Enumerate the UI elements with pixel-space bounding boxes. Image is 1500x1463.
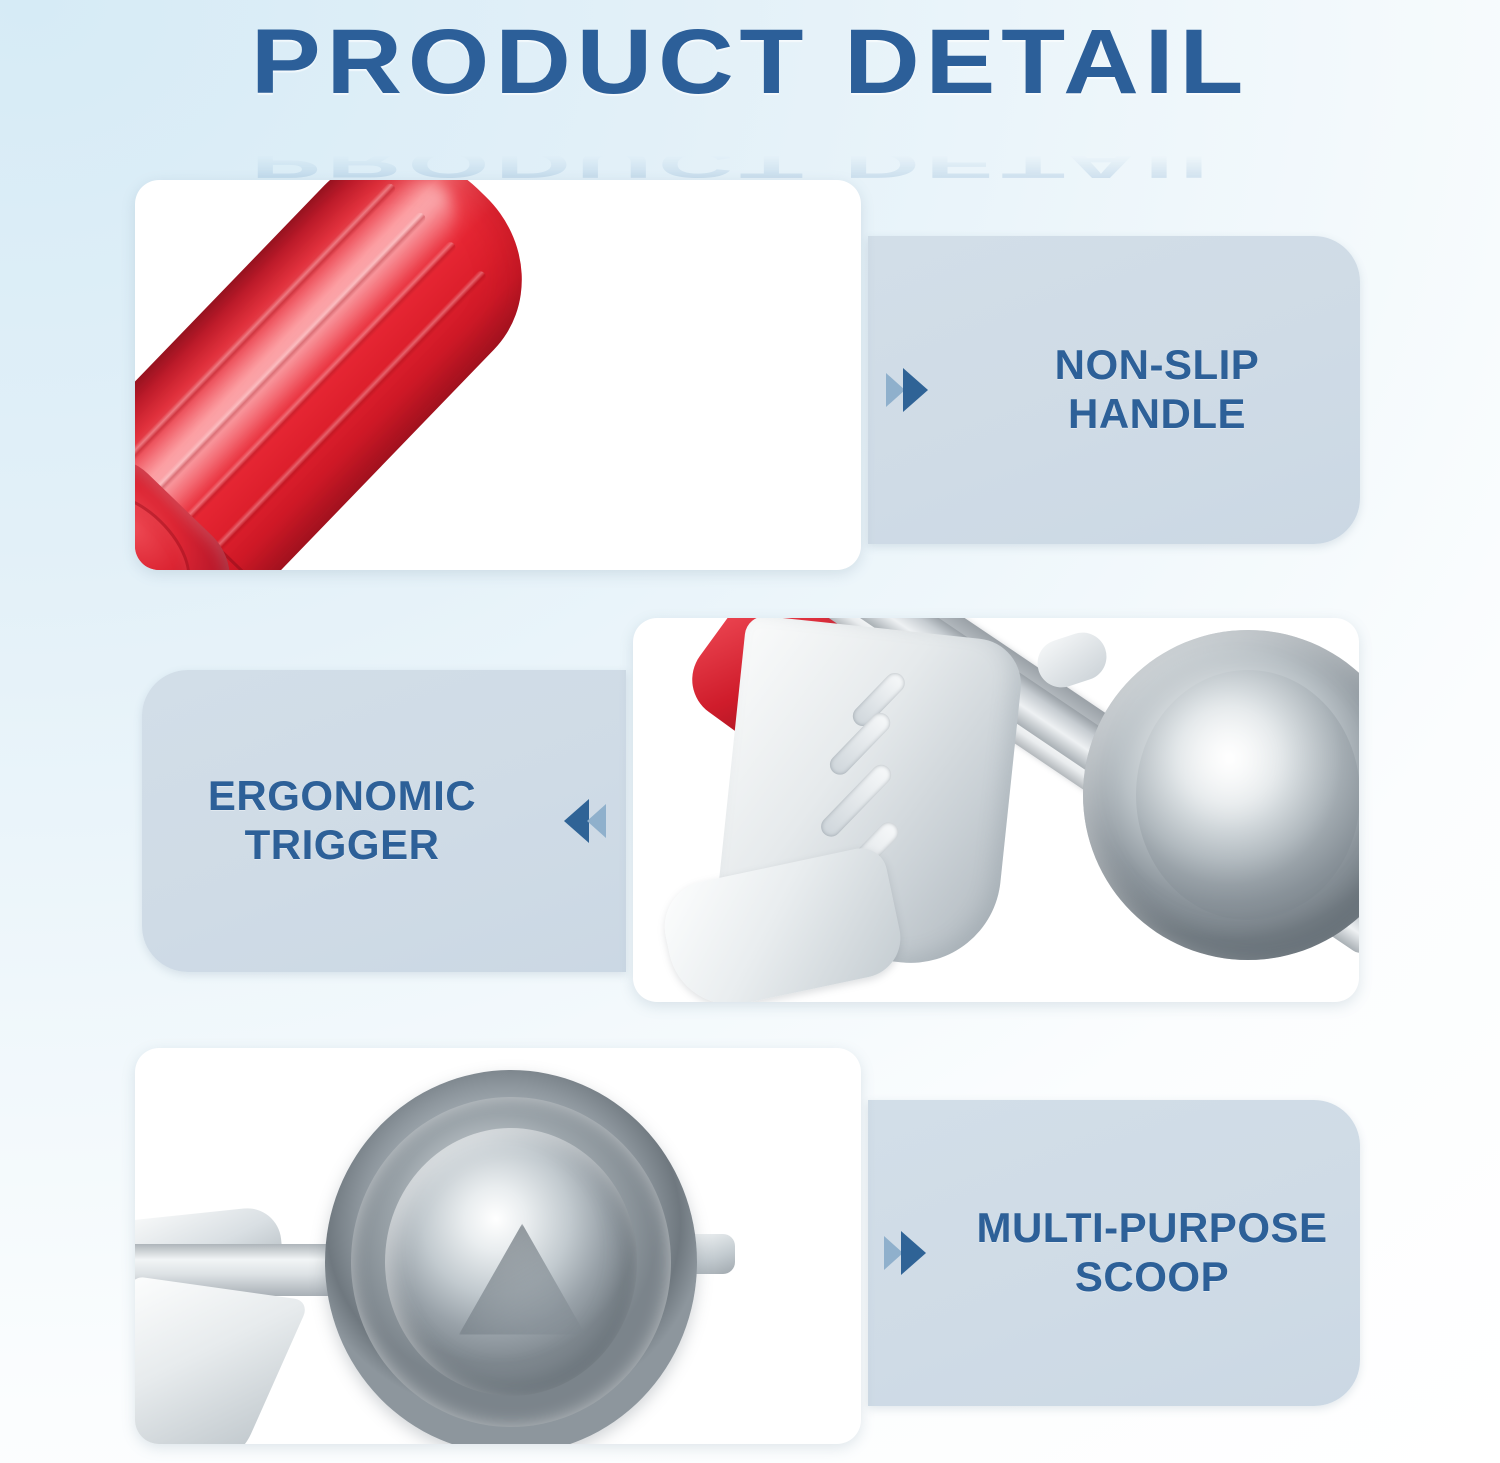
- product-detail-infographic: PRODUCT DETAIL PRODUCT DETAIL NON-SLIP H…: [0, 0, 1500, 1463]
- arrow-triangle-dark-icon: [564, 799, 589, 843]
- feature-label-line2: TRIGGER: [245, 821, 440, 868]
- feature-photo-card-multi-purpose-scoop: [135, 1048, 861, 1444]
- arrow-triangle-dark-icon: [901, 1231, 926, 1275]
- feature-label-non-slip-handle: NON-SLIP HANDLE: [954, 341, 1360, 438]
- scoop-bowl: [1083, 630, 1359, 960]
- feature-label-ergonomic-trigger: ERGONOMIC TRIGGER: [142, 772, 542, 869]
- scoop-bowl: [325, 1070, 697, 1444]
- feature-panel-multi-purpose-scoop: MULTI-PURPOSE SCOOP: [868, 1100, 1360, 1406]
- feature-label-line1: ERGONOMIC: [208, 772, 476, 819]
- feature-panel-ergonomic-trigger: ERGONOMIC TRIGGER: [142, 670, 626, 972]
- photo-scoop-bowl: [135, 1048, 861, 1444]
- page-title: PRODUCT DETAIL: [0, 16, 1500, 108]
- photo-red-handle: [135, 180, 861, 570]
- handle-gloss: [135, 180, 471, 558]
- handle-body: [135, 180, 566, 570]
- feature-photo-card-ergonomic-trigger: [633, 618, 1359, 1002]
- photo-trigger: [633, 618, 1359, 1002]
- arrow-right-icon: [884, 1231, 926, 1275]
- feature-label-line1: MULTI-PURPOSE: [976, 1204, 1327, 1251]
- trigger-paddle: [656, 843, 908, 1002]
- feature-label-multi-purpose-scoop: MULTI-PURPOSE SCOOP: [944, 1204, 1360, 1301]
- feature-panel-non-slip-handle: NON-SLIP HANDLE: [868, 236, 1360, 544]
- arrow-triangle-dark-icon: [903, 368, 928, 412]
- feature-label-line1: NON-SLIP: [1055, 341, 1260, 388]
- feature-label-line2: SCOOP: [1075, 1253, 1229, 1300]
- arrow-left-icon: [564, 799, 606, 843]
- page-title-text: PRODUCT DETAIL: [251, 16, 1249, 108]
- trigger-blade: [135, 1276, 310, 1444]
- feature-photo-card-non-slip-handle: [135, 180, 861, 570]
- arrow-triangle-light-icon: [587, 804, 606, 838]
- arrow-right-icon: [886, 368, 928, 412]
- feature-label-line2: HANDLE: [1068, 390, 1246, 437]
- page-title-reflection-text: PRODUCT DETAIL: [251, 145, 1249, 184]
